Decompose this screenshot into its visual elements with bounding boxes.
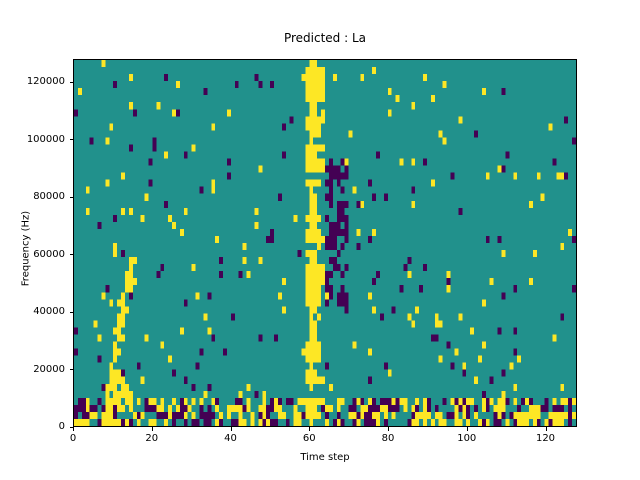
x-axis-tick-mark — [231, 427, 232, 431]
x-axis-label: Time step — [73, 452, 577, 463]
y-axis-tick-label: 60000 — [33, 248, 65, 262]
spectrogram-heatmap — [74, 60, 576, 426]
x-axis-tick-mark — [546, 427, 547, 431]
x-axis-tick-label: 20 — [132, 433, 172, 444]
y-axis-tick-label: 100000 — [27, 133, 65, 147]
x-axis-tick-label: 40 — [211, 433, 251, 444]
y-axis-tick-label: 20000 — [33, 363, 65, 377]
y-axis-tick-mark — [70, 139, 74, 140]
x-axis-tick-mark — [388, 427, 389, 431]
y-axis-ticks: 020000400006000080000100000120000 — [0, 0, 73, 480]
y-axis-tick-label: 120000 — [27, 75, 65, 89]
x-axis-tick-label: 100 — [447, 433, 487, 444]
y-axis-tick-mark — [70, 197, 74, 198]
x-axis-tick-mark — [152, 427, 153, 431]
y-axis-tick-mark — [70, 82, 74, 83]
heatmap-axes — [73, 59, 577, 427]
x-axis-tick-mark — [467, 427, 468, 431]
page-title: Predicted : La — [73, 31, 577, 45]
matplotlib-figure: Predicted : La 0200004000060000800001000… — [0, 0, 640, 480]
x-axis-tick-label: 120 — [526, 433, 566, 444]
x-axis-tick-label: 0 — [53, 433, 93, 444]
y-axis-label: Frequency (Hz) — [21, 149, 32, 349]
x-axis-tick-mark — [309, 427, 310, 431]
x-axis-tick-label: 60 — [289, 433, 329, 444]
y-axis-tick-mark — [70, 312, 74, 313]
y-axis-tick-label: 40000 — [33, 305, 65, 319]
y-axis-tick-label: 80000 — [33, 190, 65, 204]
y-axis-tick-mark — [70, 254, 74, 255]
x-axis-tick-mark — [73, 427, 74, 431]
y-axis-tick-mark — [70, 369, 74, 370]
x-axis-tick-label: 80 — [368, 433, 408, 444]
